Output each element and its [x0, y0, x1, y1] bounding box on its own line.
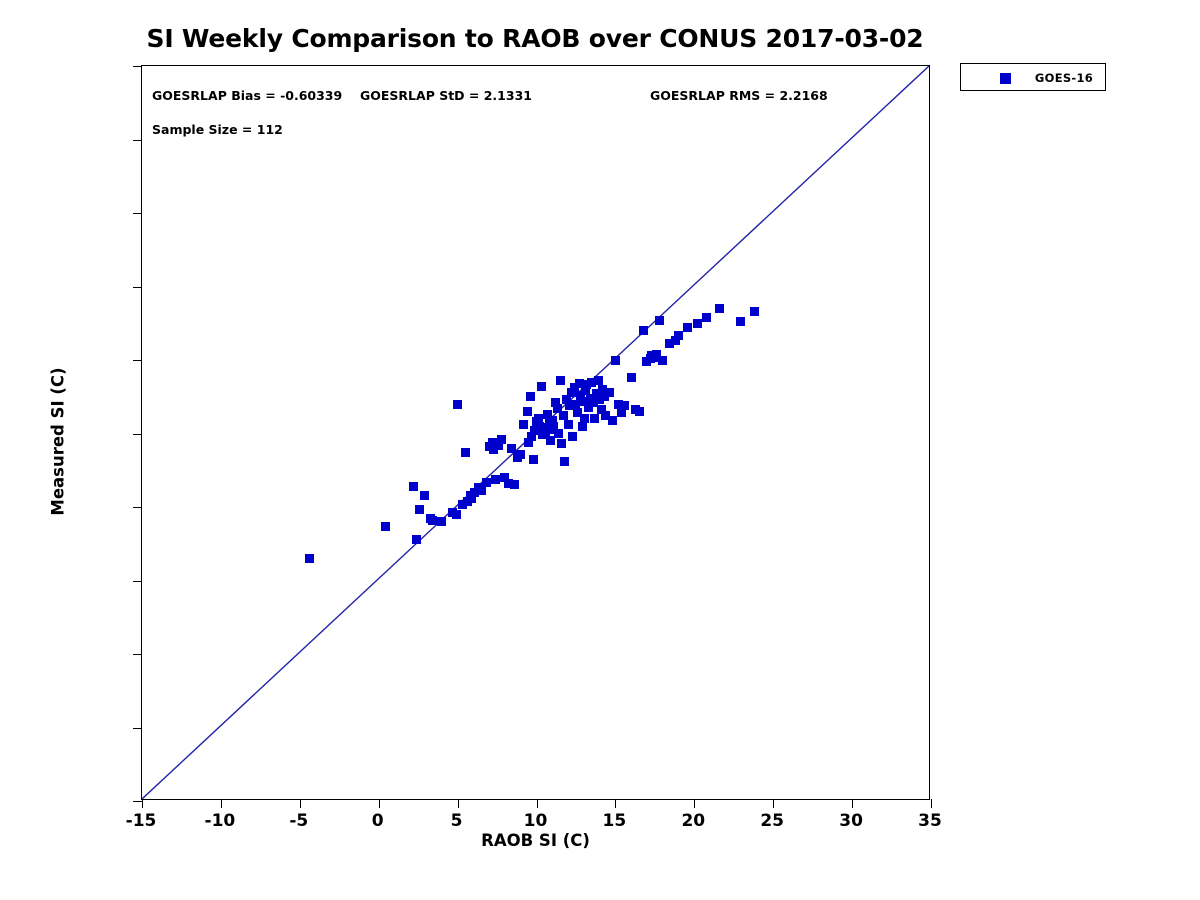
x-axis-tick-label: 0 [338, 811, 418, 831]
data-point [510, 480, 519, 489]
data-point [658, 356, 667, 365]
data-point [635, 407, 644, 416]
data-point [715, 304, 724, 313]
scatter-plot-figure: SI Weekly Comparison to RAOB over CONUS … [0, 0, 1200, 900]
data-point [507, 444, 516, 453]
y-axis-tick [133, 801, 142, 802]
y-axis-tick [133, 140, 142, 141]
data-point [578, 422, 587, 431]
x-axis-tick [773, 799, 774, 808]
data-point [674, 331, 683, 340]
x-axis-tick-label: 20 [653, 811, 733, 831]
x-axis-tick [694, 799, 695, 808]
data-point [627, 373, 636, 382]
legend-label-goes-16: GOES-16 [1031, 71, 1097, 85]
annotation-rms: GOESRLAP RMS = 2.2168 [650, 88, 828, 103]
data-point [605, 388, 614, 397]
data-point [702, 313, 711, 322]
data-point [639, 326, 648, 335]
data-point [415, 505, 424, 514]
data-point [529, 455, 538, 464]
data-point [381, 522, 390, 531]
data-point [683, 323, 692, 332]
legend: GOES-16 [960, 63, 1106, 91]
data-point [526, 392, 535, 401]
y-axis-tick [133, 66, 142, 67]
x-axis-tick [142, 799, 143, 808]
data-point [559, 411, 568, 420]
y-axis-tick [133, 654, 142, 655]
y-axis-tick [133, 507, 142, 508]
plot-area: GOESRLAP Bias = -0.60339 GOESRLAP StD = … [141, 65, 930, 800]
data-point [516, 450, 525, 459]
data-point [491, 475, 500, 484]
data-point [580, 414, 589, 423]
data-point [497, 435, 506, 444]
x-axis-title: RAOB SI (C) [141, 831, 930, 850]
data-point [620, 401, 629, 410]
page-title: SI Weekly Comparison to RAOB over CONUS … [0, 24, 1070, 53]
data-point [736, 317, 745, 326]
data-point [693, 319, 702, 328]
x-axis-tick [852, 799, 853, 808]
data-point [409, 482, 418, 491]
x-axis-tick [931, 799, 932, 808]
data-point [452, 510, 461, 519]
data-point [557, 439, 566, 448]
y-axis-tick [133, 360, 142, 361]
x-axis-tick-label: 10 [496, 811, 576, 831]
data-point [537, 382, 546, 391]
legend-marker-goes-16 [1000, 73, 1011, 84]
x-axis-tick-label: -5 [259, 811, 339, 831]
data-point [594, 376, 603, 385]
x-axis-tick-label: 15 [574, 811, 654, 831]
data-point [461, 448, 470, 457]
y-axis-tick [133, 728, 142, 729]
x-axis-tick [379, 799, 380, 808]
x-axis-tick [537, 799, 538, 808]
data-point [482, 478, 491, 487]
annotation-sample-size: Sample Size = 112 [152, 122, 283, 137]
annotation-std: GOESRLAP StD = 2.1331 [360, 88, 532, 103]
x-axis-tick [458, 799, 459, 808]
data-point [608, 416, 617, 425]
x-axis-tick-label: 25 [732, 811, 812, 831]
data-point [750, 307, 759, 316]
y-axis-tick [133, 581, 142, 582]
x-axis-tick-label: 5 [417, 811, 497, 831]
x-axis-tick-label: 35 [890, 811, 970, 831]
x-axis-tick-label: -10 [180, 811, 260, 831]
x-axis-tick [221, 799, 222, 808]
data-point [556, 376, 565, 385]
data-point [568, 432, 577, 441]
data-point [560, 457, 569, 466]
data-point [453, 400, 462, 409]
y-axis-tick [133, 434, 142, 435]
data-point [412, 535, 421, 544]
data-point [428, 516, 437, 525]
x-axis-tick-label: -15 [101, 811, 181, 831]
x-axis-tick-label: 30 [811, 811, 891, 831]
data-point [549, 422, 558, 431]
y-axis-tick [133, 213, 142, 214]
annotation-bias: GOESRLAP Bias = -0.60339 [152, 88, 342, 103]
data-point [420, 491, 429, 500]
data-point [477, 486, 486, 495]
data-point [611, 356, 620, 365]
data-point [305, 554, 314, 563]
data-point [655, 316, 664, 325]
x-axis-tick [615, 799, 616, 808]
x-axis-tick [300, 799, 301, 808]
data-point [519, 420, 528, 429]
y-axis-title: Measured SI (C) [49, 332, 68, 552]
data-point [564, 420, 573, 429]
data-point [437, 517, 446, 526]
data-point [523, 407, 532, 416]
y-axis-tick [133, 287, 142, 288]
data-point [590, 414, 599, 423]
